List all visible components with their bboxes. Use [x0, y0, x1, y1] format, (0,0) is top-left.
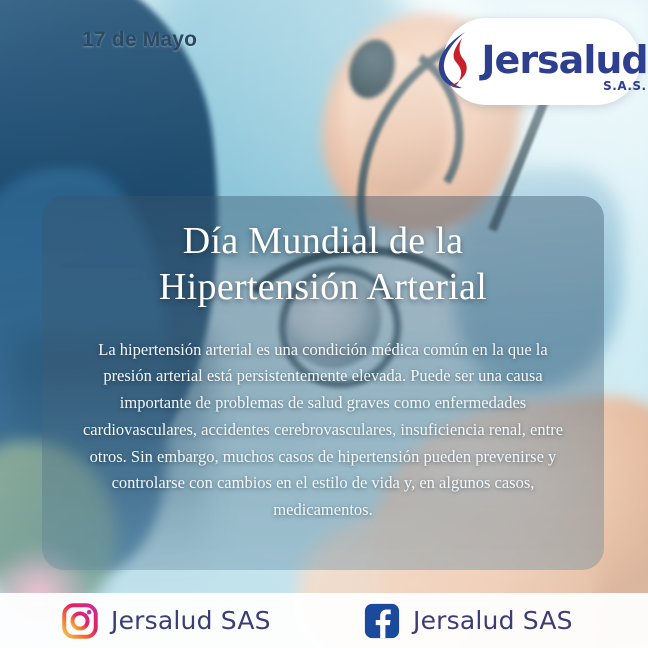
facebook-handle: Jersalud SAS	[413, 606, 573, 635]
flame-drop-icon	[435, 29, 479, 91]
instagram-handle-group[interactable]: Jersalud SAS	[0, 603, 346, 639]
title-line-1: Día Mundial de la	[183, 220, 464, 262]
brand-logo: Jersalud S.A.S.	[443, 18, 640, 105]
page-title: Día Mundial de la Hipertensión Arterial	[68, 218, 578, 311]
brand-suffix: S.A.S.	[603, 80, 646, 92]
content-card: Día Mundial de la Hipertensión Arterial …	[42, 196, 604, 570]
title-line-2: Hipertensión Arterial	[159, 266, 487, 308]
brand-wordmark: Jersalud S.A.S.	[481, 41, 647, 79]
body-paragraph: La hipertensión arterial es una condició…	[78, 337, 568, 524]
instagram-handle: Jersalud SAS	[111, 606, 271, 635]
footer-bar: Jersalud SAS Jersalud SAS	[0, 593, 648, 648]
instagram-icon[interactable]	[62, 603, 98, 639]
poster-canvas: 17 de Mayo Jersalud S.A.S. Día Mundial d…	[0, 0, 648, 648]
brand-logo-inner: Jersalud S.A.S.	[435, 29, 647, 91]
date-label: 17 de Mayo	[82, 28, 197, 52]
facebook-handle-group[interactable]: Jersalud SAS	[346, 603, 648, 639]
brand-wordmark-text: Jersalud	[481, 38, 647, 82]
facebook-icon[interactable]	[364, 603, 400, 639]
